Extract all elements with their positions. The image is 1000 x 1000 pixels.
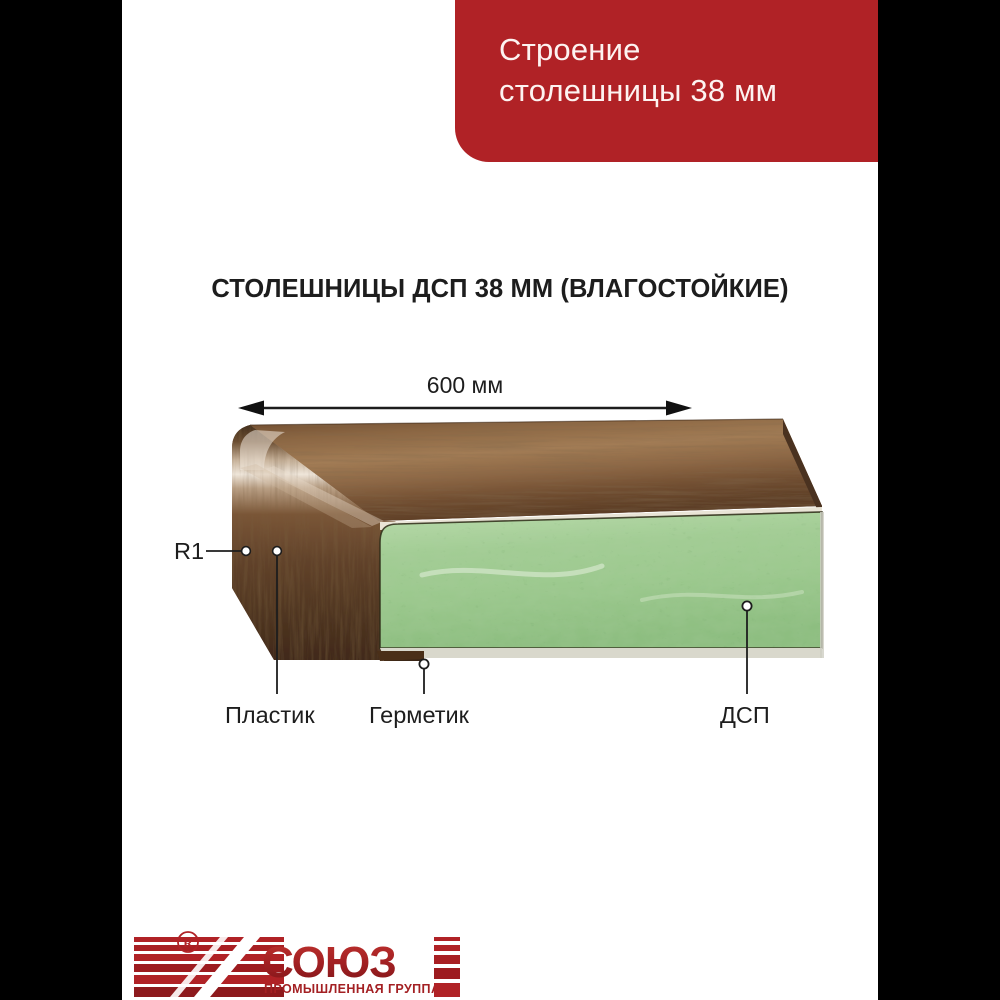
dot-germetik	[419, 659, 428, 668]
dot-plastik	[273, 547, 282, 556]
callout-label-r1: R1	[174, 538, 204, 565]
trademark-letter: R	[183, 935, 193, 950]
countertop-illustration	[122, 0, 878, 1000]
sealant-line	[377, 651, 424, 661]
callout-label-germetik: Герметик	[369, 702, 469, 729]
poster-canvas: Строение столешницы 38 мм СТОЛЕШНИЦЫ ДСП…	[122, 0, 878, 1000]
chipboard-core	[380, 507, 822, 658]
callout-label-dsp: ДСП	[720, 702, 770, 729]
dot-r1	[242, 547, 251, 556]
page-frame: Строение столешницы 38 мм СТОЛЕШНИЦЫ ДСП…	[0, 0, 1000, 1000]
company-logo[interactable]: R СОЮЗ ПРОМЫШЛЕННАЯ ГРУППА	[134, 925, 464, 997]
callout-label-plastik: Пластик	[225, 702, 315, 729]
logo-tagline: ПРОМЫШЛЕННАЯ ГРУППА	[264, 982, 440, 996]
logo-bars	[434, 937, 460, 997]
logo-brand: СОЮЗ	[262, 938, 396, 987]
dot-dsp	[742, 601, 751, 610]
